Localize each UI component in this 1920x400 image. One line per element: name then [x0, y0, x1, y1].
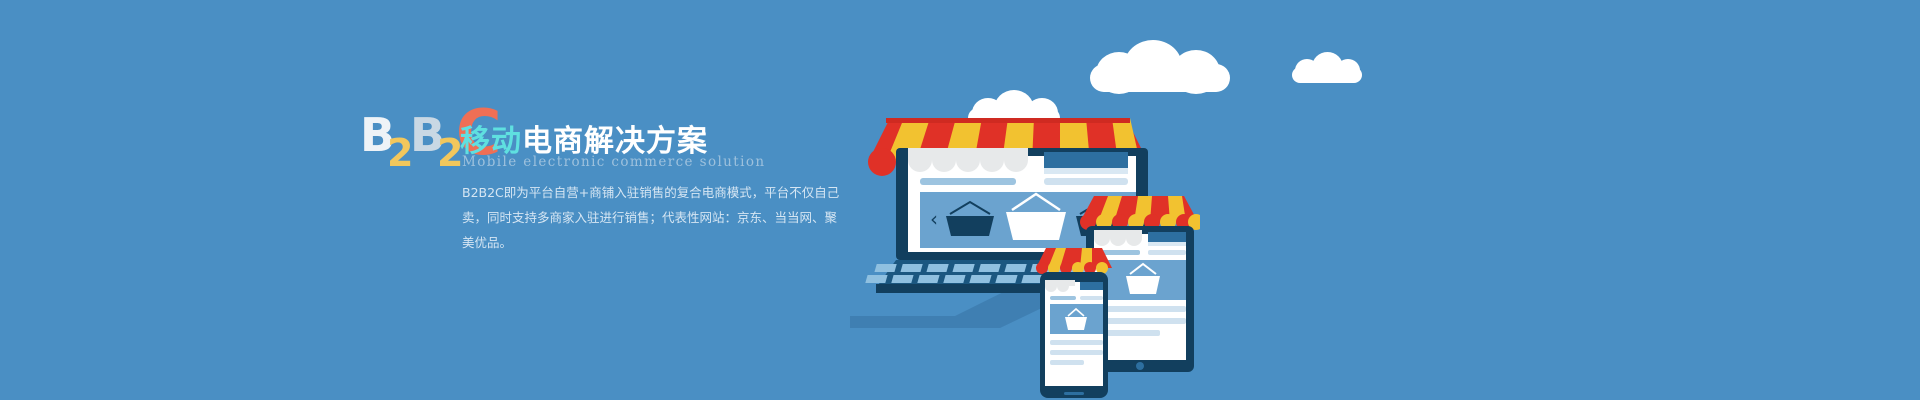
description-line-1: B2B2C即为平台自营+商铺入驻销售的复合电商模式，平台不仅自己	[462, 180, 772, 205]
smartphone	[1036, 248, 1112, 400]
svg-text:‹: ‹	[930, 207, 938, 231]
description-line-3: 美优品。	[462, 230, 772, 255]
promo-banner: B 2 B 2 C 移动电商解决方案 Mobile electronic com…	[0, 0, 1920, 400]
cloud-tiny-icon	[1292, 52, 1362, 84]
ecommerce-devices-illustration: ‹ ›	[840, 0, 1460, 400]
banner-subtitle: Mobile electronic commerce solution	[462, 154, 765, 170]
cloud-large-icon	[1090, 40, 1230, 95]
banner-text-block: B 2 B 2 C 移动电商解决方案 Mobile electronic com…	[360, 108, 790, 288]
banner-description: B2B2C即为平台自营+商铺入驻销售的复合电商模式，平台不仅自己 卖，同时支持多…	[462, 180, 772, 255]
description-line-2: 卖，同时支持多商家入驻进行销售；代表性网站：京东、当当网、聚	[462, 205, 772, 230]
